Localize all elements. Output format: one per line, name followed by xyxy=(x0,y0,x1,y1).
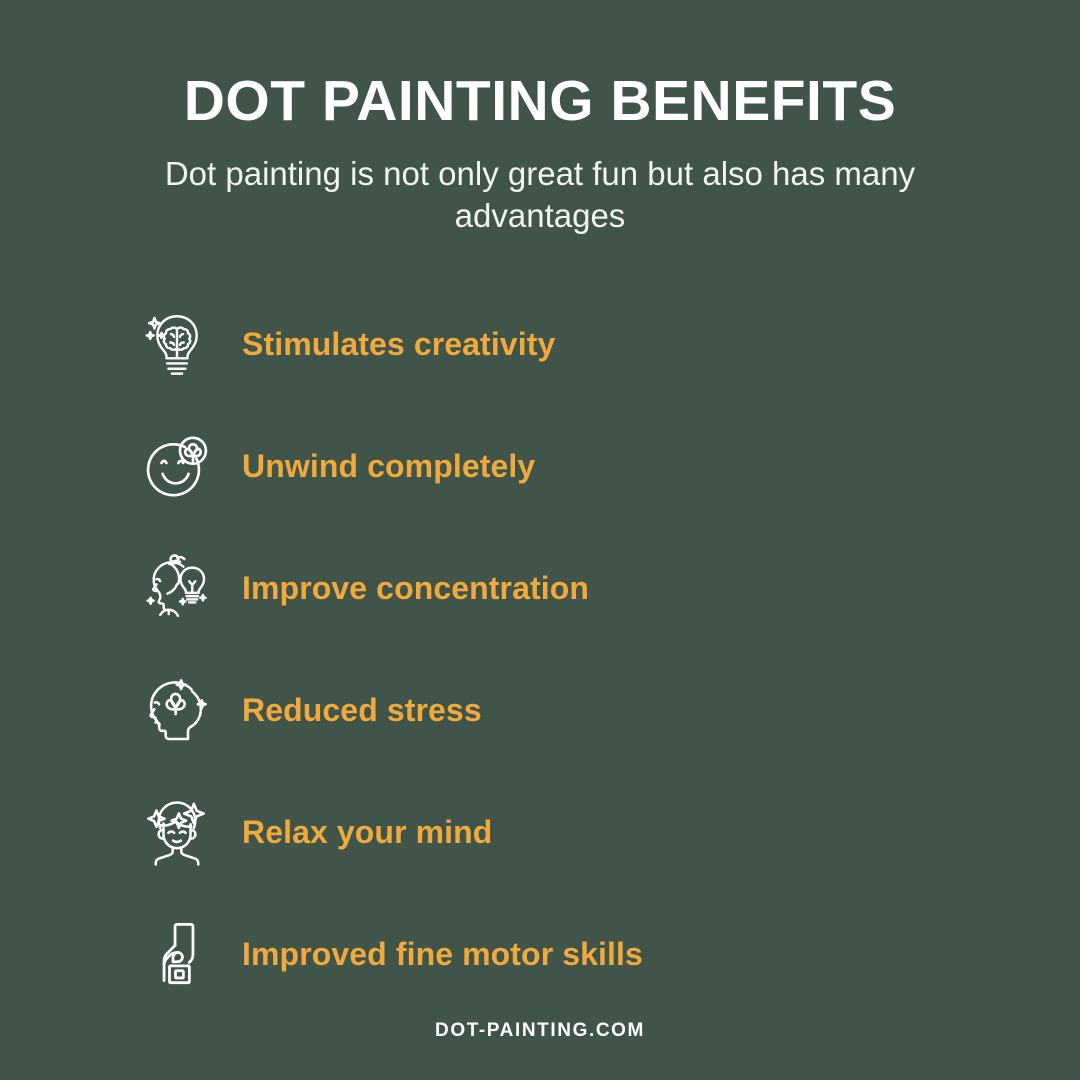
footer-website: DOT-PAINTING.COM xyxy=(0,1020,1080,1042)
page-subtitle: Dot painting is not only great fun but a… xyxy=(145,132,935,237)
hand-holding-block-icon xyxy=(140,917,214,991)
list-item: Unwind completely xyxy=(0,405,1080,527)
list-item: Reduced stress xyxy=(0,649,1080,771)
smiling-face-flower-icon xyxy=(140,429,214,503)
benefit-label: Relax your mind xyxy=(242,814,492,851)
list-item: Relax your mind xyxy=(0,771,1080,893)
benefit-label: Improved fine motor skills xyxy=(242,936,643,973)
page-title: DOT PAINTING BENEFITS xyxy=(184,0,896,132)
list-item: Improved fine motor skills xyxy=(0,893,1080,1015)
head-lightbulb-icon xyxy=(140,551,214,625)
benefit-label: Unwind completely xyxy=(242,448,535,485)
lightbulb-brain-icon xyxy=(140,307,214,381)
calm-face-sparkles-icon xyxy=(140,795,214,869)
head-lotus-icon xyxy=(140,673,214,747)
list-item: Improve concentration xyxy=(0,527,1080,649)
benefit-label: Improve concentration xyxy=(242,570,589,607)
poster: DOT PAINTING BENEFITS Dot painting is no… xyxy=(0,0,1080,1080)
benefit-label: Stimulates creativity xyxy=(242,326,555,363)
benefit-label: Reduced stress xyxy=(242,692,482,729)
benefits-list: Stimulates creativity Unwind completely xyxy=(0,283,1080,1015)
list-item: Stimulates creativity xyxy=(0,283,1080,405)
